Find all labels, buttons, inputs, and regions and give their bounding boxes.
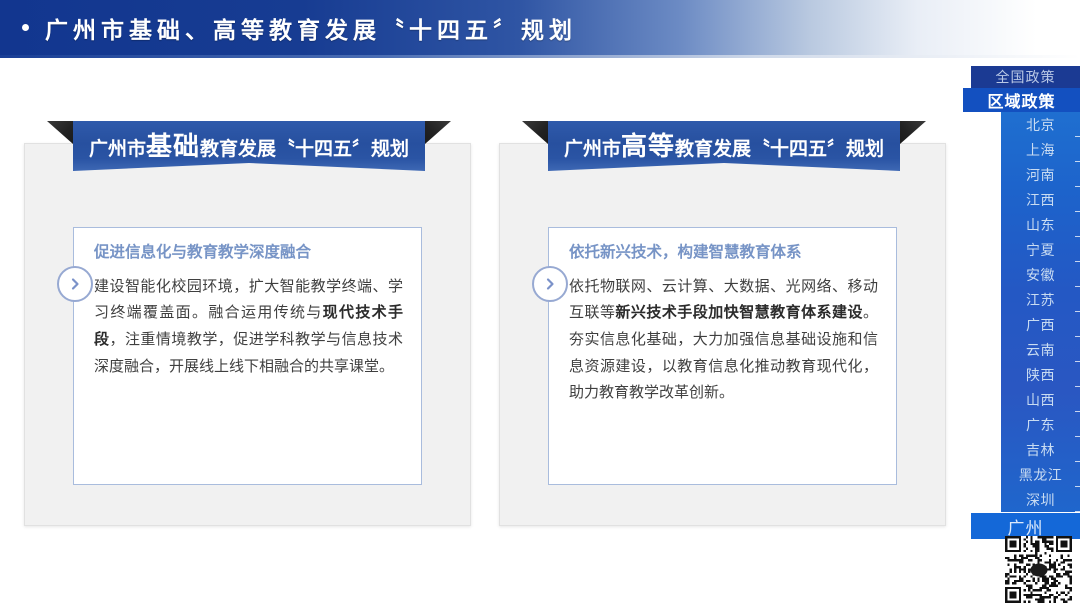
sidebar-item-label: 江西 xyxy=(1026,190,1055,210)
ribbon-body: 广州市高等教育发展〝十四五〞规划 xyxy=(548,121,900,171)
sidebar-item-label: 广州 xyxy=(1008,514,1044,539)
ribbon-title-suffix: 教育发展〝十四五〞规划 xyxy=(675,139,884,160)
ribbon-body: 广州市基础教育发展〝十四五〞规划 xyxy=(73,121,425,171)
ribbon-fold-left-icon xyxy=(47,121,73,144)
ribbon-title-emphasis: 高等 xyxy=(621,131,675,161)
page-header: 广州市基础、高等教育发展〝十四五〞规划 xyxy=(0,0,1080,55)
sidebar-item-region[interactable]: 陕西 xyxy=(1001,362,1080,387)
sidebar-item-label: 广东 xyxy=(1026,415,1055,435)
sidebar-item-region[interactable]: 山东 xyxy=(1001,212,1080,237)
sidebar-item-region[interactable]: 吉林 xyxy=(1001,437,1080,462)
sidebar-item-region[interactable]: 广西 xyxy=(1001,312,1080,337)
region-sidebar: 全国政策 区域政策 北京上海河南江西山东宁夏安徽江苏广西云南陕西山西广东吉林黑龙… xyxy=(963,58,1080,608)
sidebar-item-label: 全国政策 xyxy=(996,67,1056,87)
bullet-dot-icon xyxy=(22,24,29,31)
panel-body-seg-bold: 新兴技术手段加快智慧教育体系建设 xyxy=(615,304,863,321)
sidebar-item-label: 深圳 xyxy=(1026,490,1055,510)
ribbon-fold-right-icon xyxy=(425,121,451,144)
sidebar-item-region[interactable]: 江苏 xyxy=(1001,287,1080,312)
sidebar-item-national-policy[interactable]: 全国政策 xyxy=(971,66,1080,88)
ribbon-title-prefix: 广州市 xyxy=(564,139,621,160)
sidebar-item-label: 陕西 xyxy=(1026,365,1055,385)
sidebar-item-region[interactable]: 黑龙江 xyxy=(1001,462,1080,487)
page-title: 广州市基础、高等教育发展〝十四五〞规划 xyxy=(45,11,577,45)
sidebar-item-label: 宁夏 xyxy=(1026,240,1055,260)
qr-center-logo-icon xyxy=(1030,563,1047,576)
sidebar-item-region[interactable]: 深圳 xyxy=(1001,487,1080,512)
sidebar-region-list: 北京上海河南江西山东宁夏安徽江苏广西云南陕西山西广东吉林黑龙江深圳 xyxy=(1001,112,1080,512)
qr-code-icon[interactable] xyxy=(1005,536,1072,603)
sidebar-item-region[interactable]: 安徽 xyxy=(1001,262,1080,287)
sidebar-item-region[interactable]: 北京 xyxy=(1001,112,1080,137)
sidebar-item-label: 北京 xyxy=(1026,115,1055,135)
sidebar-item-label: 安徽 xyxy=(1026,265,1055,285)
sidebar-item-region[interactable]: 广东 xyxy=(1001,412,1080,437)
sidebar-item-label: 河南 xyxy=(1026,165,1055,185)
card-panel: 依托新兴技术，构建智慧教育体系 依托物联网、云计算、大数据、光网络、移动互联等新… xyxy=(548,227,897,485)
card-panel: 促进信息化与教育教学深度融合 建设智能化校园环境，扩大智能教学终端、学习终端覆盖… xyxy=(73,227,422,485)
sidebar-item-region[interactable]: 宁夏 xyxy=(1001,237,1080,262)
ribbon-fold-right-icon xyxy=(900,121,926,144)
panel-body: 建设智能化校园环境，扩大智能教学终端、学习终端覆盖面。融合运用传统与现代技术手段… xyxy=(94,274,403,381)
panel-heading: 促进信息化与教育教学深度融合 xyxy=(94,244,403,263)
ribbon-title: 广州市基础教育发展〝十四五〞规划 xyxy=(89,126,409,166)
sidebar-item-region[interactable]: 云南 xyxy=(1001,337,1080,362)
panel-body-seg: ，注重情境教学，促进学科教学与信息技术深度融合，开展线上线下相融合的共享课堂。 xyxy=(94,331,403,375)
sidebar-item-region[interactable]: 上海 xyxy=(1001,137,1080,162)
card-ribbon: 广州市高等教育发展〝十四五〞规划 xyxy=(548,121,900,171)
sidebar-item-label: 山西 xyxy=(1026,390,1055,410)
ribbon-title-suffix: 教育发展〝十四五〞规划 xyxy=(200,139,409,160)
sidebar-item-region[interactable]: 山西 xyxy=(1001,387,1080,412)
policy-card-basic-education: 广州市基础教育发展〝十四五〞规划 促进信息化与教育教学深度融合 建设智能化校园环… xyxy=(24,143,471,526)
panel-heading: 依托新兴技术，构建智慧教育体系 xyxy=(569,244,878,263)
sidebar-item-label: 黑龙江 xyxy=(1019,465,1063,485)
sidebar-item-region[interactable]: 江西 xyxy=(1001,187,1080,212)
panel-body: 依托物联网、云计算、大数据、光网络、移动互联等新兴技术手段加快智慧教育体系建设。… xyxy=(569,274,878,407)
sidebar-item-label: 广西 xyxy=(1026,315,1055,335)
sidebar-item-label: 吉林 xyxy=(1026,440,1055,460)
sidebar-item-label: 云南 xyxy=(1026,340,1055,360)
sidebar-item-label: 山东 xyxy=(1026,215,1055,235)
sidebar-item-regional-policy[interactable]: 区域政策 xyxy=(963,88,1080,112)
chevron-right-circle-icon xyxy=(532,266,568,302)
sidebar-item-label: 江苏 xyxy=(1026,290,1055,310)
sidebar-item-region[interactable]: 河南 xyxy=(1001,162,1080,187)
card-ribbon: 广州市基础教育发展〝十四五〞规划 xyxy=(73,121,425,171)
ribbon-title: 广州市高等教育发展〝十四五〞规划 xyxy=(564,126,884,166)
ribbon-title-prefix: 广州市 xyxy=(89,139,146,160)
sidebar-item-label: 上海 xyxy=(1026,140,1055,160)
sidebar-item-label: 区域政策 xyxy=(987,88,1055,112)
chevron-right-circle-icon xyxy=(57,266,93,302)
ribbon-fold-left-icon xyxy=(522,121,548,144)
policy-card-higher-education: 广州市高等教育发展〝十四五〞规划 依托新兴技术，构建智慧教育体系 依托物联网、云… xyxy=(499,143,946,526)
content-stage: 广州市基础教育发展〝十四五〞规划 促进信息化与教育教学深度融合 建设智能化校园环… xyxy=(0,58,960,608)
ribbon-title-emphasis: 基础 xyxy=(146,131,200,161)
